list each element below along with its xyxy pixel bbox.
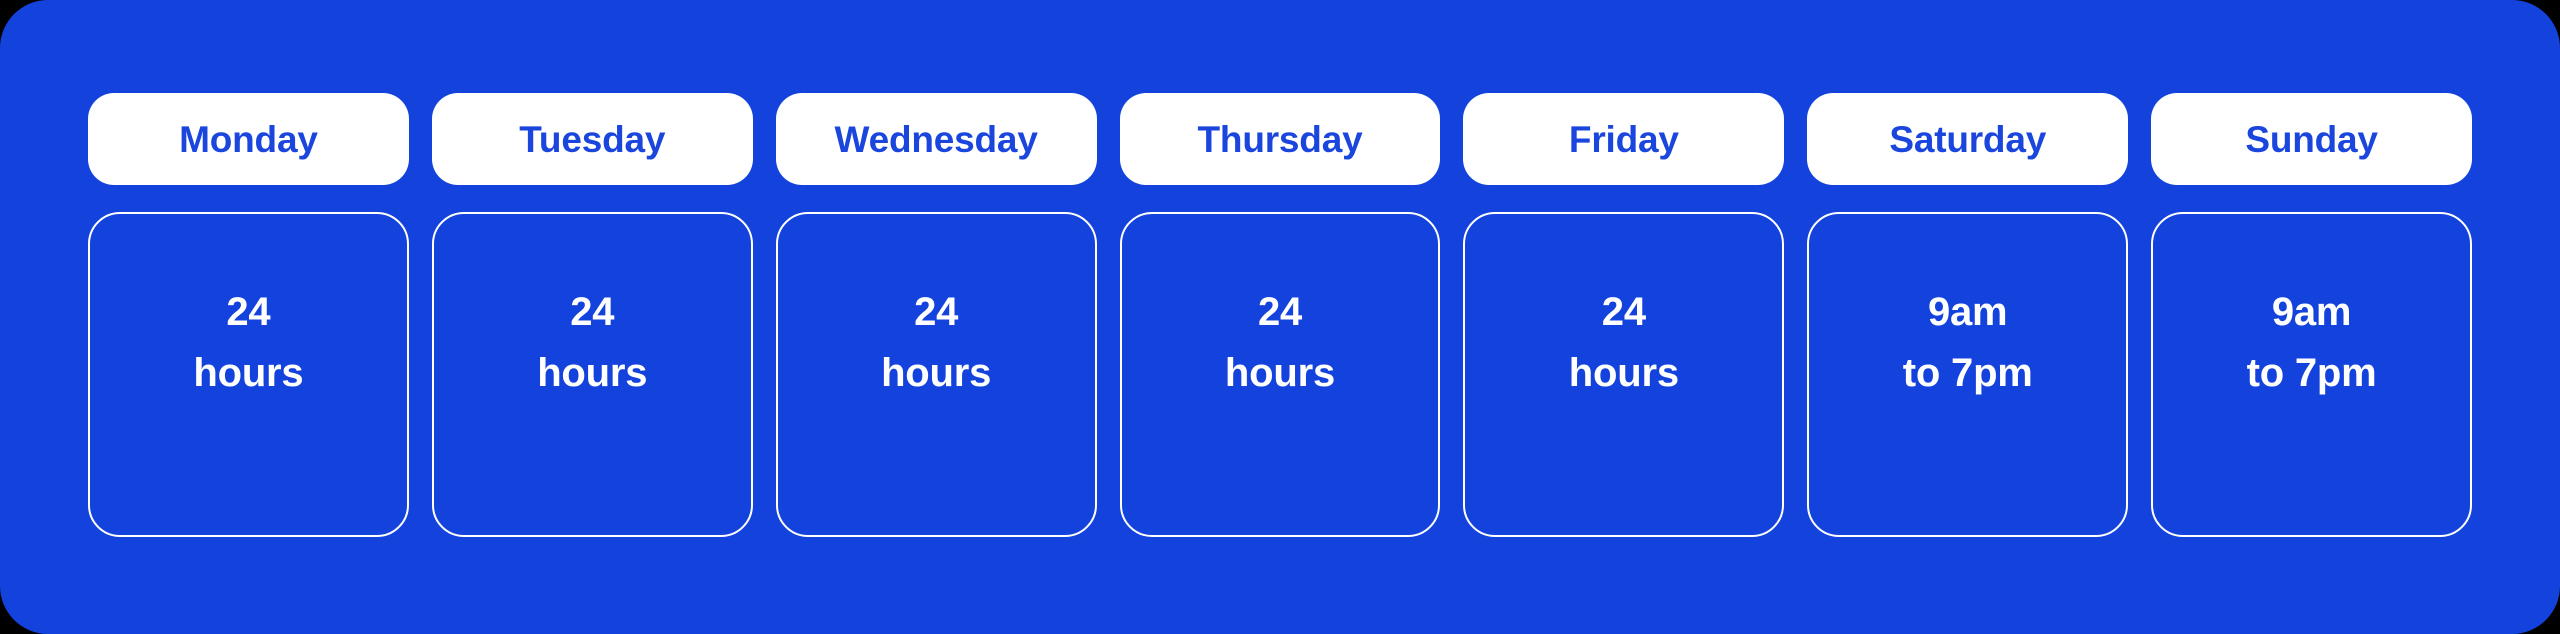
hours-card-text: 9am to 7pm xyxy=(1903,282,2033,404)
hours-card-text: 9am to 7pm xyxy=(2247,282,2377,404)
day-pill-sunday[interactable]: Sunday xyxy=(2151,93,2472,185)
hours-card-text: 24 hours xyxy=(537,282,647,404)
hours-card-saturday[interactable]: 9am to 7pm xyxy=(1807,212,2128,537)
hours-card-text: 24 hours xyxy=(1225,282,1335,404)
weekly-schedule-grid: Monday Tuesday Wednesday Thursday Friday… xyxy=(88,93,2472,537)
day-pill-label: Monday xyxy=(179,121,318,158)
hours-card-wednesday[interactable]: 24 hours xyxy=(776,212,1097,537)
hours-card-monday[interactable]: 24 hours xyxy=(88,212,409,537)
day-pill-friday[interactable]: Friday xyxy=(1463,93,1784,185)
day-pill-label: Saturday xyxy=(1889,121,2046,158)
hours-card-text: 24 hours xyxy=(193,282,303,404)
day-pill-label: Friday xyxy=(1569,121,1679,158)
day-pill-tuesday[interactable]: Tuesday xyxy=(432,93,753,185)
hours-card-text: 24 hours xyxy=(881,282,991,404)
day-pill-label: Tuesday xyxy=(519,121,665,158)
day-pill-saturday[interactable]: Saturday xyxy=(1807,93,2128,185)
hours-card-friday[interactable]: 24 hours xyxy=(1463,212,1784,537)
hours-card-tuesday[interactable]: 24 hours xyxy=(432,212,753,537)
day-pill-label: Sunday xyxy=(2245,121,2377,158)
day-pill-label: Thursday xyxy=(1198,121,1363,158)
day-pill-label: Wednesday xyxy=(835,121,1038,158)
day-pill-thursday[interactable]: Thursday xyxy=(1120,93,1441,185)
hours-card-text: 24 hours xyxy=(1569,282,1679,404)
day-pill-monday[interactable]: Monday xyxy=(88,93,409,185)
hours-card-sunday[interactable]: 9am to 7pm xyxy=(2151,212,2472,537)
hours-card-thursday[interactable]: 24 hours xyxy=(1120,212,1441,537)
opening-hours-panel: Monday Tuesday Wednesday Thursday Friday… xyxy=(0,0,2560,634)
day-pill-wednesday[interactable]: Wednesday xyxy=(776,93,1097,185)
